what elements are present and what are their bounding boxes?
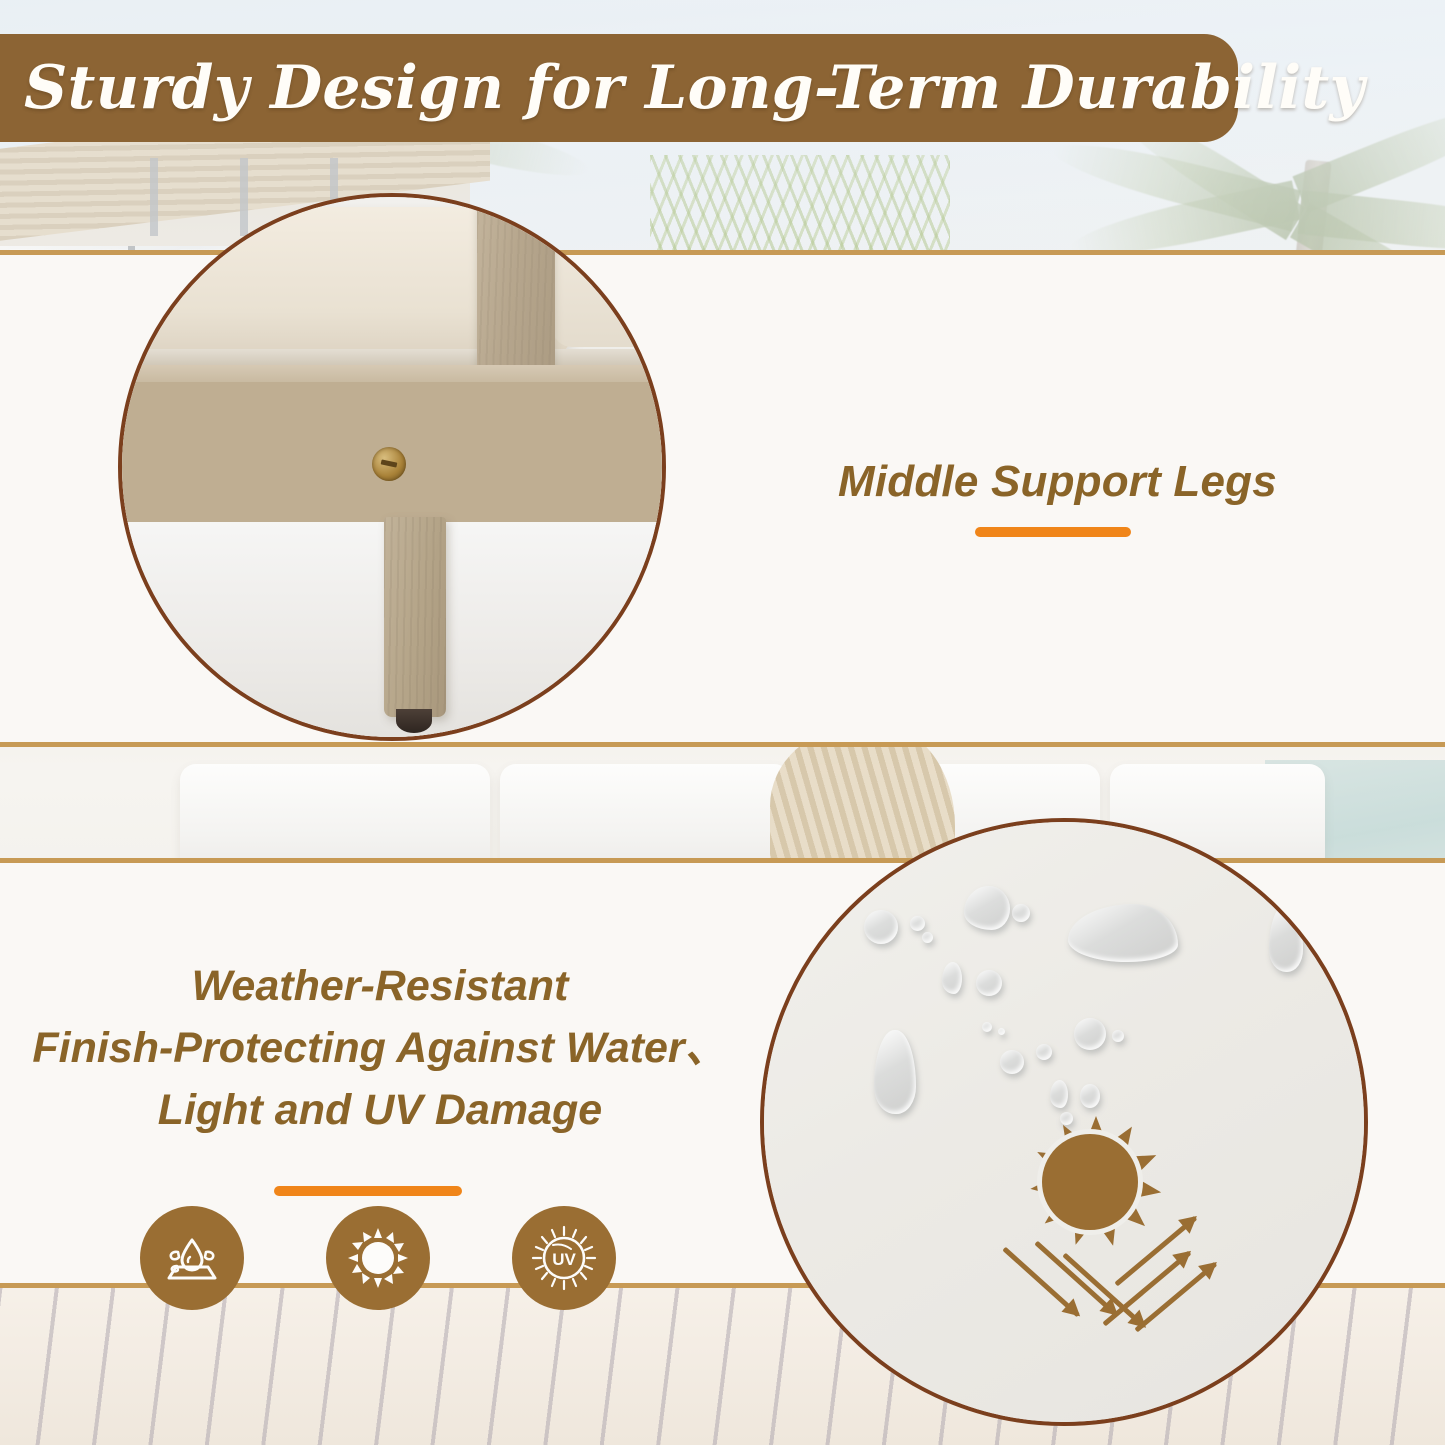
leg-foot-pad <box>396 709 432 733</box>
page-title: Sturdy Design for Long-Term Durability <box>24 53 1365 123</box>
weather-resistant-line-2: Finish-Protecting Against Water、 <box>0 1017 760 1079</box>
weather-resistant-underline <box>274 1186 462 1196</box>
water-droplet <box>1112 1030 1124 1042</box>
weather-resistant-title: Weather-Resistant Finish-Protecting Agai… <box>0 955 760 1141</box>
feature-badge-row: UV <box>140 1206 640 1310</box>
water-droplet <box>1269 904 1303 972</box>
water-droplet <box>964 886 1010 930</box>
uv-protection-badge: UV <box>512 1206 616 1310</box>
weather-resistant-line-1: Weather-Resistant <box>0 955 760 1017</box>
water-droplet <box>910 916 925 931</box>
weather-resistant-line-3: Light and UV Damage <box>0 1079 760 1141</box>
water-droplet <box>1000 1050 1024 1074</box>
water-droplet <box>1074 1018 1106 1050</box>
water-droplet-surface-icon <box>160 1226 224 1290</box>
water-droplet <box>976 970 1002 996</box>
sun-icon <box>346 1226 410 1290</box>
sun-graphic <box>1020 1112 1160 1252</box>
water-droplet <box>1012 904 1030 922</box>
water-repellent-badge <box>140 1206 244 1310</box>
weather-resistant-finish-photo <box>760 818 1368 1426</box>
seat-cushion <box>552 217 666 347</box>
water-droplet <box>1036 1044 1052 1060</box>
water-droplet <box>874 1030 916 1114</box>
middle-support-legs-underline <box>975 527 1131 537</box>
water-droplet <box>1050 1080 1068 1108</box>
water-droplet <box>982 1022 992 1032</box>
reflected-ray-arrow <box>1134 1262 1217 1333</box>
middle-support-leg <box>384 517 446 717</box>
water-droplet <box>998 1028 1005 1035</box>
wood-frame-closeup <box>122 197 662 737</box>
water-droplet <box>864 910 898 944</box>
middle-support-legs-photo <box>118 193 666 741</box>
header-banner: Sturdy Design for Long-Term Durability <box>0 34 1238 142</box>
sun-resistant-badge <box>326 1206 430 1310</box>
reflected-ray-arrow <box>1102 1251 1191 1327</box>
water-bead-surface <box>764 822 1364 1422</box>
water-puddle <box>1068 904 1178 962</box>
brass-screw <box>372 447 406 481</box>
water-droplet <box>1080 1084 1100 1108</box>
water-droplet <box>922 932 933 943</box>
water-droplet <box>942 962 962 994</box>
uv-sun-icon: UV <box>531 1225 597 1291</box>
promo-image-stage: Sturdy Design for Long-Term Durability M… <box>0 0 1445 1445</box>
middle-support-legs-title: Middle Support Legs <box>838 457 1277 507</box>
uv-badge-label: UV <box>552 1250 576 1269</box>
